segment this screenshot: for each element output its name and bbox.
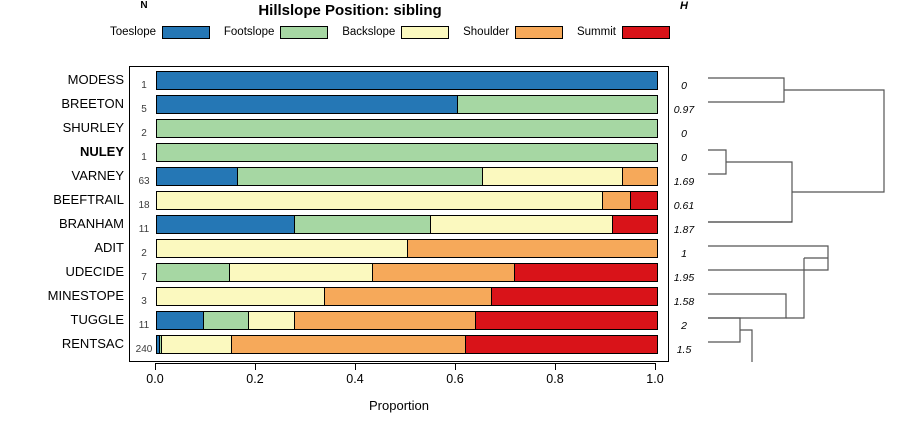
dendrogram (700, 66, 900, 362)
x-axis-tick-label: 0.8 (535, 372, 575, 386)
row-label: MINESTOPE (48, 284, 124, 308)
h-value: 0 (666, 146, 702, 170)
bar-segment-shoulder (372, 264, 515, 281)
row-label: TUGGLE (71, 308, 124, 332)
table-row[interactable] (156, 239, 658, 258)
bar-segment-summit (491, 288, 658, 305)
h-value: 0.61 (666, 194, 702, 218)
row-label: SHURLEY (63, 116, 124, 140)
bar-segment-footslope (157, 120, 657, 137)
bar-segment-toeslope (157, 216, 294, 233)
x-axis-line (155, 363, 655, 364)
bar-segment-shoulder (231, 336, 465, 353)
table-row[interactable] (156, 287, 658, 306)
n-value: 3 (130, 290, 158, 314)
legend-label: Footslope (224, 26, 275, 38)
table-row[interactable] (156, 71, 658, 90)
h-column-header: H (666, 0, 702, 12)
row-label: BREETON (61, 92, 124, 116)
bar-segment-summit (475, 312, 657, 329)
row-label: MODESS (68, 68, 124, 92)
n-value: 2 (130, 242, 158, 266)
bar-segment-toeslope (157, 168, 237, 185)
bar-segment-footslope (237, 168, 482, 185)
row-label: RENTSAC (62, 332, 124, 356)
bar-segment-toeslope (157, 96, 457, 113)
bar-segment-shoulder (407, 240, 657, 257)
h-value: 2 (666, 314, 702, 338)
bar-segment-footslope (203, 312, 249, 329)
legend-item-backslope[interactable]: Backslope (342, 26, 449, 39)
bar-segment-summit (612, 216, 658, 233)
n-value: 63 (130, 170, 158, 194)
n-value: 18 (130, 194, 158, 218)
bar-segment-backslope (157, 288, 324, 305)
bar-segment-shoulder (294, 312, 476, 329)
x-axis-tick (255, 363, 256, 370)
legend-swatch (162, 26, 210, 39)
n-column: 152163181127311240 (130, 66, 158, 362)
n-value: 5 (130, 98, 158, 122)
h-value: 1.58 (666, 290, 702, 314)
bar-segment-backslope (482, 168, 622, 185)
plot-area (129, 66, 669, 362)
h-value: 0 (666, 74, 702, 98)
h-value: 0 (666, 122, 702, 146)
n-value: 1 (130, 146, 158, 170)
h-value: 1.69 (666, 170, 702, 194)
table-row[interactable] (156, 167, 658, 186)
row-label: BEEFTRAIL (53, 188, 124, 212)
x-axis-tick (455, 363, 456, 370)
h-value: 1.87 (666, 218, 702, 242)
n-value: 1 (130, 74, 158, 98)
n-value: 11 (130, 314, 158, 338)
legend-item-footslope[interactable]: Footslope (224, 26, 329, 39)
bar-segment-summit (465, 336, 657, 353)
bar-segment-shoulder (602, 192, 630, 209)
bar-segment-backslope (229, 264, 372, 281)
stacked-bars (130, 67, 670, 363)
h-value: 1.95 (666, 266, 702, 290)
table-row[interactable] (156, 263, 658, 282)
row-label: VARNEY (72, 164, 125, 188)
bar-segment-footslope (157, 264, 229, 281)
bar-segment-footslope (294, 216, 430, 233)
bar-segment-backslope (157, 240, 407, 257)
legend-label: Backslope (342, 26, 395, 38)
legend-item-summit[interactable]: Summit (577, 26, 670, 39)
n-value: 240 (130, 338, 158, 362)
n-value: 7 (130, 266, 158, 290)
legend-label: Toeslope (110, 26, 156, 38)
row-label-column: MODESSBREETONSHURLEYNULEYVARNEYBEEFTRAIL… (0, 66, 124, 362)
x-axis-tick (555, 363, 556, 370)
bar-segment-backslope (430, 216, 612, 233)
bar-segment-shoulder (622, 168, 657, 185)
x-axis-tick (355, 363, 356, 370)
legend-label: Shoulder (463, 26, 509, 38)
legend-item-toeslope[interactable]: Toeslope (110, 26, 210, 39)
row-label: NULEY (80, 140, 124, 164)
legend-label: Summit (577, 26, 616, 38)
table-row[interactable] (156, 143, 658, 162)
table-row[interactable] (156, 215, 658, 234)
x-axis-tick-label: 0.4 (335, 372, 375, 386)
page-title: Hillslope Position: sibling (0, 2, 700, 19)
x-axis-tick-label: 1.0 (635, 372, 675, 386)
legend-swatch (280, 26, 328, 39)
x-axis: 0.00.20.40.60.81.0 (155, 363, 655, 403)
bar-segment-backslope (161, 336, 231, 353)
h-value: 0.97 (666, 98, 702, 122)
legend-swatch (401, 26, 449, 39)
n-column-header: N (130, 0, 158, 11)
bar-segment-footslope (457, 96, 657, 113)
bar-segment-summit (630, 192, 658, 209)
h-value: 1.5 (666, 338, 702, 362)
h-value: 1 (666, 242, 702, 266)
table-row[interactable] (156, 335, 658, 354)
bar-segment-summit (514, 264, 657, 281)
row-label: ADIT (94, 236, 124, 260)
x-axis-tick (155, 363, 156, 370)
n-value: 2 (130, 122, 158, 146)
table-row[interactable] (156, 191, 658, 210)
legend-swatch (515, 26, 563, 39)
x-axis-label: Proportion (129, 398, 669, 413)
x-axis-tick-label: 0.0 (135, 372, 175, 386)
bar-segment-toeslope (157, 72, 657, 89)
x-axis-tick-label: 0.6 (435, 372, 475, 386)
row-label: UDECIDE (65, 260, 124, 284)
n-value: 11 (130, 218, 158, 242)
table-row[interactable] (156, 311, 658, 330)
h-column: 00.97001.690.611.8711.951.5821.5 (666, 66, 702, 362)
bar-segment-toeslope (157, 312, 203, 329)
bar-segment-shoulder (324, 288, 491, 305)
chart-root: Hillslope Position: sibling ToeslopeFoot… (0, 0, 900, 440)
dendrogram-svg (700, 66, 900, 362)
bar-segment-backslope (248, 312, 294, 329)
legend-swatch (622, 26, 670, 39)
x-axis-tick-label: 0.2 (235, 372, 275, 386)
row-label: BRANHAM (59, 212, 124, 236)
bar-segment-backslope (157, 192, 602, 209)
bar-segment-footslope (157, 144, 657, 161)
x-axis-tick (655, 363, 656, 370)
legend-item-shoulder[interactable]: Shoulder (463, 26, 563, 39)
table-row[interactable] (156, 95, 658, 114)
table-row[interactable] (156, 119, 658, 138)
legend: ToeslopeFootslopeBackslopeShoulderSummit (110, 22, 670, 42)
